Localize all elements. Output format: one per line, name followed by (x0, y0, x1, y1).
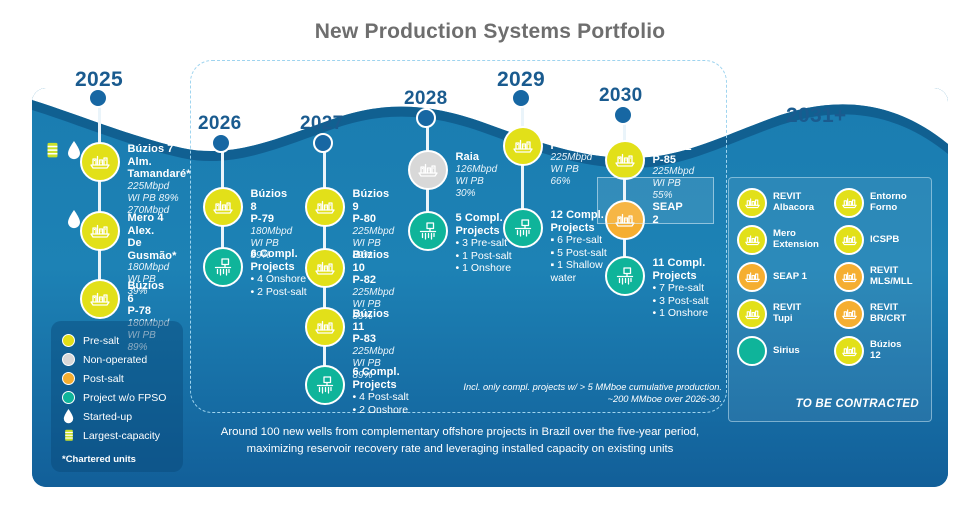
fpso-icon (737, 225, 767, 255)
contract-item-label-line: ICSPB (870, 235, 899, 246)
legend-row: Non-operated (62, 350, 183, 369)
fpso-icon (737, 299, 767, 329)
legend-label: Project w/o FPSO (83, 392, 166, 404)
contract-item-label-line: Albacora (773, 203, 814, 214)
caption-line-1: Around 100 new wells from complementary … (160, 424, 760, 441)
node-name-line: Búzios 6 (128, 280, 170, 305)
node-name-line: Projects (251, 261, 307, 274)
contract-item-label: Sirius (773, 346, 800, 357)
node-bullet-line: water (551, 272, 607, 285)
drop-icon (62, 409, 75, 424)
timeline-head-dot (416, 108, 436, 128)
page-title: New Production Systems Portfolio (0, 20, 980, 44)
fpso-icon (737, 262, 767, 292)
wells-icon (503, 208, 543, 248)
fpso-icon (305, 248, 345, 288)
node-name-line: Atapu 2 (551, 127, 593, 140)
fpso-icon (834, 262, 864, 292)
to-be-contracted-panel: REVITAlbacoraEntornoFornoMeroExtensionIC… (728, 177, 932, 422)
contract-item-label: REVITAlbacora (773, 192, 814, 214)
timeline-head-dot (511, 88, 531, 108)
infographic-root: New Production Systems Portfolio 2025202… (0, 0, 980, 515)
contract-item-label: EntornoForno (870, 192, 907, 214)
node-text: Raia126MbpdWI PB 30% (456, 150, 498, 200)
fpso-icon (737, 188, 767, 218)
timeline-head-dot (88, 88, 108, 108)
timeline-node[interactable]: Atapu 2P-84225MbpdWI PB 66% (523, 126, 593, 188)
fpso-icon (203, 187, 243, 227)
node-name-line: Búzios 11 (353, 308, 395, 333)
node-bullet-line: • 1 Onshore (653, 307, 709, 320)
contract-item[interactable]: ICSPB (834, 225, 927, 255)
node-bullet-line: ▪ 6 Pre-salt (551, 234, 607, 247)
node-metric-line: 225Mbpd (551, 152, 593, 164)
contract-item-label: ICSPB (870, 235, 899, 246)
node-bullet-line: • 1 Post-salt (456, 250, 512, 263)
timeline-node[interactable]: 6 Compl.Projects• 4 Onshore• 2 Post-salt (223, 247, 307, 298)
node-metric-line: 225Mbpd (128, 181, 191, 193)
node-metric-line: 180Mbpd (251, 226, 293, 238)
node-text: Atapu 2P-84225MbpdWI PB 66% (551, 126, 593, 188)
seap2-highlight-box (597, 177, 714, 224)
node-bullet-line: • 7 Pre-salt (653, 282, 709, 295)
wells-icon (408, 211, 448, 251)
node-text: 11 Compl.Projects• 7 Pre-salt• 3 Post-sa… (653, 256, 709, 320)
contract-item[interactable]: REVITAlbacora (737, 188, 830, 218)
node-bullet-line: • 4 Post-salt (353, 391, 409, 404)
node-name-line: P-78 (128, 305, 170, 318)
node-bullet-line: ▪ 5 Post-salt (551, 247, 607, 260)
node-name-line: Búzios 8 (251, 188, 293, 213)
fpso-icon (834, 225, 864, 255)
bottom-caption: Around 100 new wells from complementary … (160, 424, 760, 458)
drop-icon (67, 210, 81, 234)
node-bullet-line: • 2 Post-salt (251, 286, 307, 299)
node-metric-line: 180Mbpd (128, 262, 177, 274)
wells-icon (605, 256, 645, 296)
barrel-icon (62, 429, 75, 442)
fpso-icon (605, 140, 645, 180)
year-label-2027: 2027 (300, 113, 343, 135)
node-name-line: P-80 (353, 213, 395, 226)
legend-label: Non-operated (83, 354, 147, 366)
contract-item-label: SEAP 1 (773, 272, 807, 283)
node-bullet-line: • 2 Onshore (353, 404, 409, 417)
contract-item[interactable]: MeroExtension (737, 225, 830, 255)
node-text: Búzios 7 Alm.Tamandaré*225MbpdWI PB 89%2… (128, 142, 191, 217)
blank-icon (737, 336, 767, 366)
wells-icon (305, 365, 345, 405)
timeline-head-dot (613, 105, 633, 125)
contract-item-label-line: 12 (870, 351, 901, 362)
contract-item-label: REVITTupi (773, 303, 801, 325)
node-name-line: P-83 (353, 333, 395, 346)
contract-item-label-line: Forno (870, 203, 907, 214)
year-label-2026: 2026 (198, 113, 241, 135)
node-name-line: Sépia 2 (653, 141, 695, 154)
timeline-head-dot (211, 133, 231, 153)
fpso-icon (305, 307, 345, 347)
contract-item-label: REVITBR/CRT (870, 303, 906, 325)
contract-item[interactable]: SEAP 1 (737, 262, 830, 292)
contract-item-label-line: Extension (773, 240, 819, 251)
project-wo-fpso-swatch (62, 391, 75, 404)
compl-projects-footnote: Incl. only compl. projects w/ > 5 MMboe … (432, 381, 722, 405)
year-label-2031plus: 2031+ (786, 104, 846, 128)
contract-item[interactable]: REVITTupi (737, 299, 830, 329)
drop-icon (67, 141, 81, 165)
node-name-line: Búzios 10 (353, 249, 395, 274)
node-text: 6 Compl.Projects• 4 Onshore• 2 Post-salt (251, 247, 307, 298)
fpso-icon (305, 187, 345, 227)
node-name-line: Mero 4 Alex. (128, 212, 177, 237)
node-metric-line: 126Mbpd (456, 164, 498, 176)
legend-label: Largest-capacity (83, 430, 160, 442)
node-name-line: Búzios 7 Alm. (128, 143, 191, 168)
post-salt-swatch (62, 372, 75, 385)
non-operated-swatch (62, 353, 75, 366)
fpso-icon (834, 188, 864, 218)
node-metric-line: 225Mbpd (353, 346, 395, 358)
contract-item[interactable]: EntornoForno (834, 188, 927, 218)
legend-label: Post-salt (83, 373, 124, 385)
legend-row: Pre-salt (62, 331, 183, 350)
year-label-2028: 2028 (404, 88, 447, 110)
node-name-line: 11 Compl. (653, 257, 709, 270)
footnote-line-2: ~200 MMboe over 2026-30. (432, 393, 722, 405)
node-bullet-line: • 1 Onshore (456, 262, 512, 275)
pre-salt-swatch (62, 334, 75, 347)
node-name-line: P-79 (251, 213, 293, 226)
fpso-icon (834, 299, 864, 329)
fpso-icon (80, 279, 120, 319)
year-label-2030: 2030 (599, 85, 642, 107)
contract-item[interactable]: Sirius (737, 336, 830, 366)
node-metric-line: WI PB 89% (128, 193, 191, 205)
contract-item-label-line: SEAP 1 (773, 272, 807, 283)
legend-label: Pre-salt (83, 335, 119, 347)
contract-item-label-line: Sirius (773, 346, 800, 357)
contract-item-label-line: MLS/MLL (870, 277, 913, 288)
timeline-node[interactable]: Búzios 7 Alm.Tamandaré*225MbpdWI PB 89%2… (100, 142, 191, 217)
timeline-node[interactable]: 11 Compl.Projects• 7 Pre-salt• 3 Post-sa… (625, 256, 709, 320)
fpso-icon (80, 211, 120, 251)
node-name-line: 6 Compl. (251, 248, 307, 261)
node-name-line: De Gusmão* (128, 237, 177, 262)
timeline-head-dot (313, 133, 333, 153)
timeline-node[interactable]: 5 Compl.Projects• 3 Pre-salt• 1 Post-sal… (428, 211, 512, 275)
node-bullet-line: • 4 Onshore (251, 273, 307, 286)
node-metric-line: 225Mbpd (353, 287, 395, 299)
fpso-icon (80, 142, 120, 182)
to-be-contracted-status: TO BE CONTRACTED (796, 398, 919, 410)
contract-item[interactable]: REVITBR/CRT (834, 299, 927, 329)
contract-item[interactable]: REVITMLS/MLL (834, 262, 927, 292)
node-name-line: P-84 (551, 140, 593, 153)
node-bullet-line: • 3 Pre-salt (456, 237, 512, 250)
timeline-node[interactable]: 6 Compl.Projects• 4 Post-salt• 2 Onshore (325, 365, 409, 416)
footnote-line-1: Incl. only compl. projects w/ > 5 MMboe … (432, 381, 722, 393)
node-metric-line: 225Mbpd (353, 226, 395, 238)
barrel-icon (46, 142, 59, 163)
contract-item-label: Búzios12 (870, 340, 901, 362)
legend-label: Started-up (83, 411, 132, 423)
node-name-line: P-85 (653, 154, 695, 167)
node-text: 6 Compl.Projects• 4 Post-salt• 2 Onshore (353, 365, 409, 416)
contract-item[interactable]: Búzios12 (834, 336, 927, 366)
legend-row: Post-salt (62, 369, 183, 388)
fpso-icon (503, 126, 543, 166)
node-name-line: 6 Compl. (353, 366, 409, 379)
timeline-node[interactable]: 12 Compl.Projects▪ 6 Pre-salt▪ 5 Post-sa… (523, 208, 607, 285)
node-name-line: Raia (456, 151, 498, 164)
node-metric-line: WI PB 66% (551, 164, 593, 188)
to-be-contracted-grid: REVITAlbacoraEntornoFornoMeroExtensionIC… (737, 188, 927, 366)
contract-item-label: REVITMLS/MLL (870, 266, 913, 288)
fpso-icon (408, 150, 448, 190)
node-name-line: Projects (653, 270, 709, 283)
node-bullet-line: ▪ 1 Shallow (551, 259, 607, 272)
node-name-line: Projects (353, 379, 409, 392)
wells-icon (203, 247, 243, 287)
node-name-line: Búzios 9 (353, 188, 395, 213)
node-name-line: Tamandaré* (128, 168, 191, 181)
contract-item-label-line: BR/CRT (870, 314, 906, 325)
node-name-line: P-82 (353, 274, 395, 287)
node-bullet-line: • 3 Post-salt (653, 295, 709, 308)
timeline-node[interactable]: Raia126MbpdWI PB 30% (428, 150, 498, 200)
caption-line-2: maximizing reservoir recovery rate and l… (160, 441, 760, 458)
contract-item-label: MeroExtension (773, 229, 819, 251)
contract-item-label-line: Tupi (773, 314, 801, 325)
node-metric-line: WI PB 30% (456, 176, 498, 200)
legend-row: Project w/o FPSO (62, 388, 183, 407)
fpso-icon (834, 336, 864, 366)
